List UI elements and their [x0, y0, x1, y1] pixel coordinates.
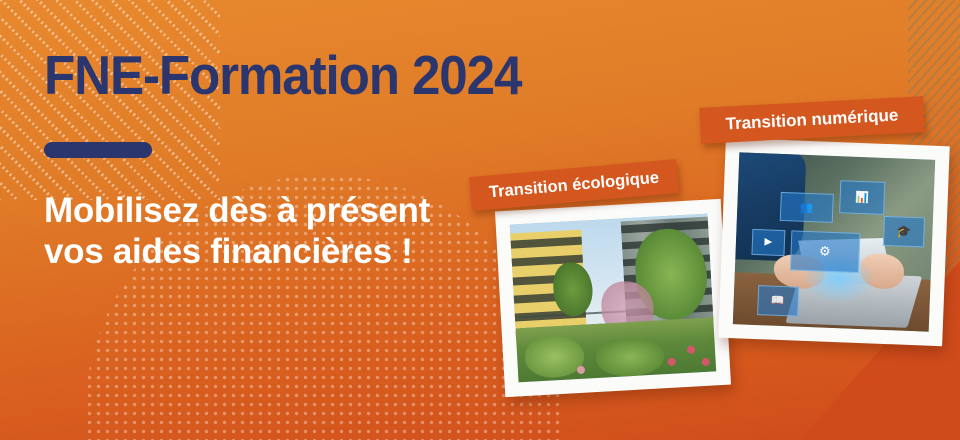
page-title: FNE-Formation 2024 [44, 48, 521, 103]
ribbon-label-ecologique: Transition écologique [488, 168, 660, 202]
subtitle-line-2: vos aides financières ! [44, 231, 430, 272]
ribbon-numerique: Transition numérique [699, 96, 925, 144]
book-icon: 📖 [757, 285, 799, 316]
graduation-cap-icon: 🎓 [883, 216, 925, 247]
fne-formation-banner: FNE-Formation 2024 Mobilisez dès à prése… [0, 0, 960, 440]
ribbon-label-numerique: Transition numérique [725, 105, 899, 134]
brain-head-icon: ⚙ [790, 230, 860, 272]
photo-card-ecologique[interactable] [495, 199, 731, 397]
title-accent-bar [44, 142, 152, 158]
photo-ecologique [510, 214, 717, 383]
people-icon: 👥 [780, 192, 834, 224]
photo-card-numerique[interactable]: 👥 📊 🎓 ⚙ 📖 ▶ [718, 138, 950, 346]
play-icon: ▶ [751, 229, 785, 256]
page-subtitle: Mobilisez dès à présent vos aides financ… [44, 190, 430, 273]
photo-numerique: 👥 📊 🎓 ⚙ 📖 ▶ [733, 152, 935, 331]
subtitle-line-1: Mobilisez dès à présent [44, 190, 430, 231]
presentation-icon: 📊 [839, 180, 885, 215]
